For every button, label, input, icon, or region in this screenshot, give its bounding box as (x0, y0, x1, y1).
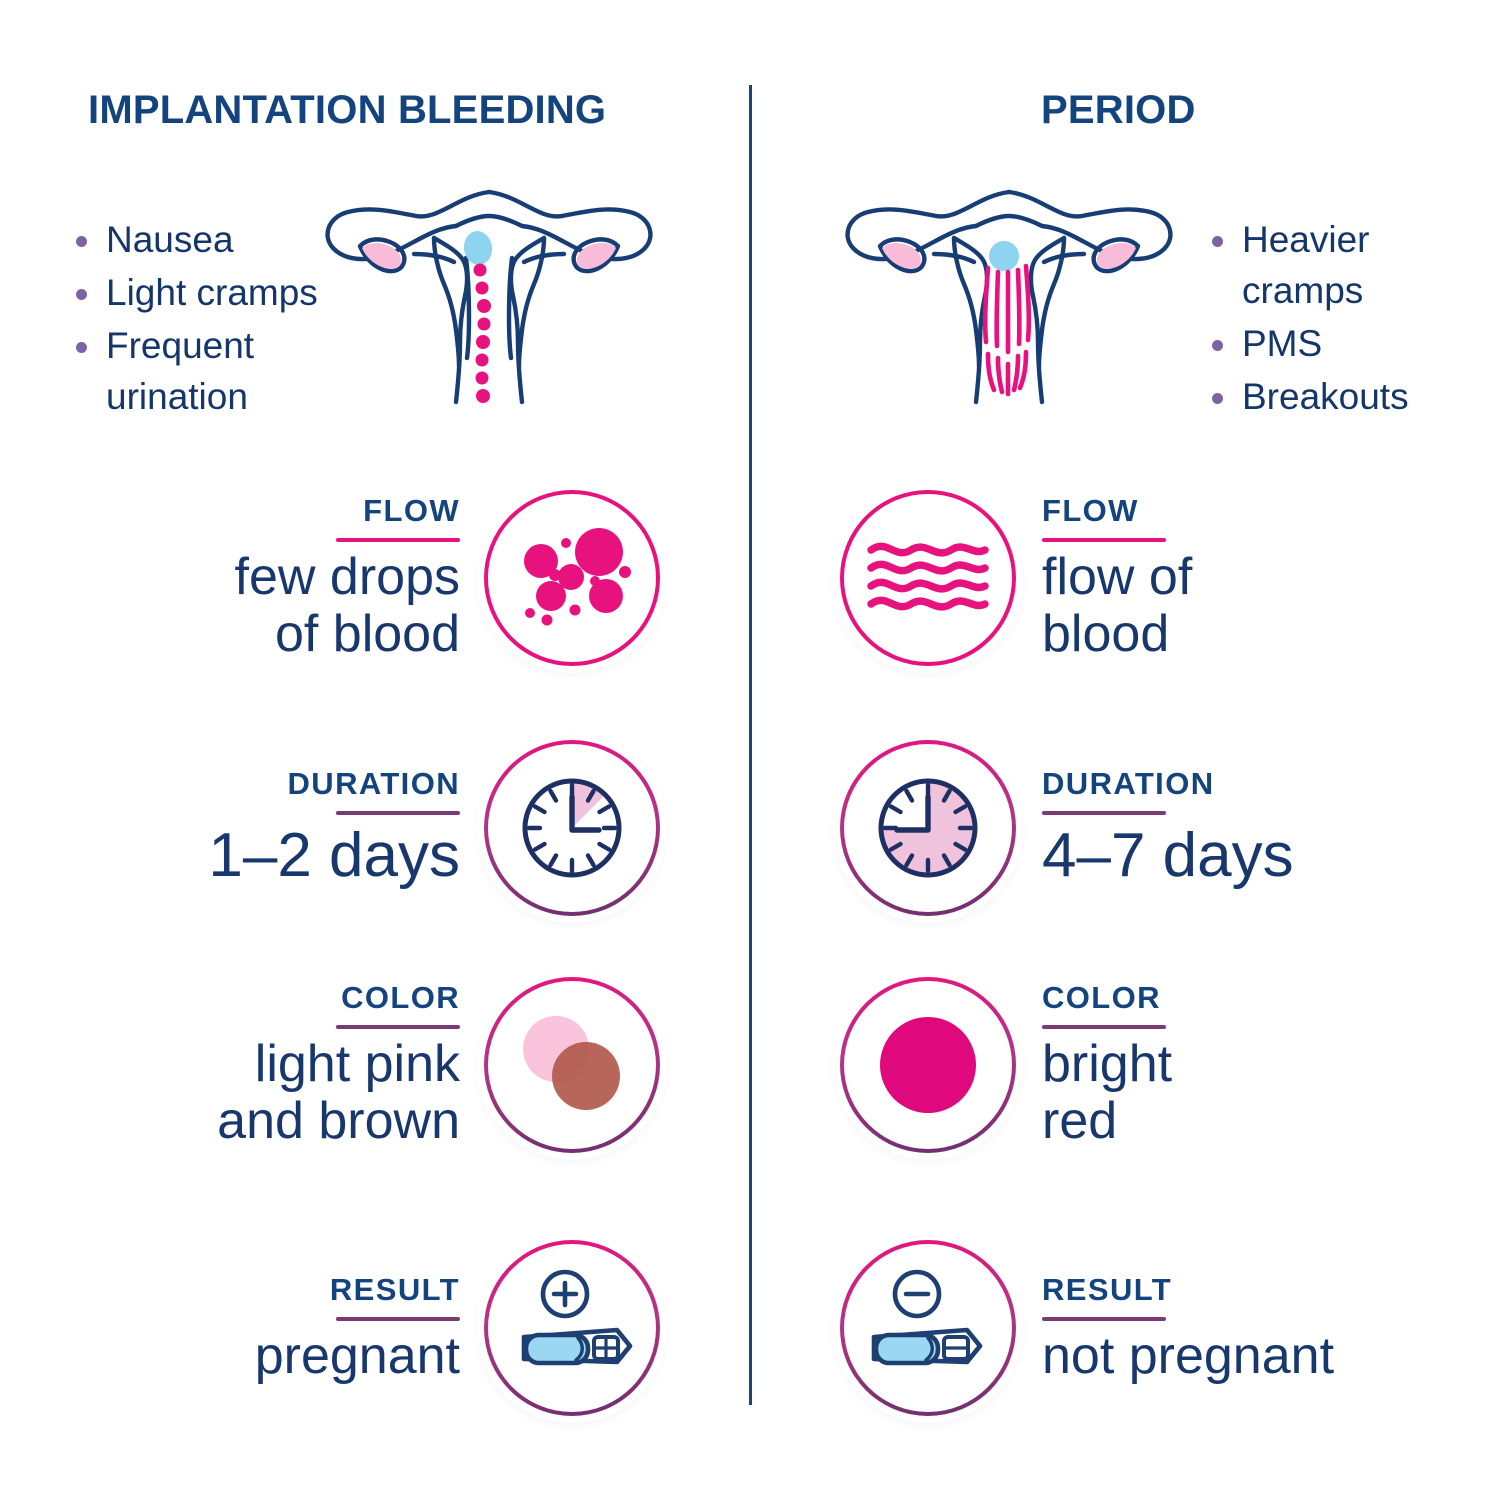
uterus-implantation-diagram (308, 178, 668, 423)
minus-sign-icon (895, 1272, 939, 1316)
infographic-canvas: IMPLANTATION BLEEDING Nausea Light cramp… (0, 0, 1500, 1500)
row-color-implantation: COLOR light pink and brown (60, 975, 660, 1155)
row-result-implantation: RESULT pregnant (60, 1238, 660, 1418)
list-item: Heavier cramps (1208, 214, 1468, 316)
row-label: FLOW (1042, 493, 1139, 529)
row-underline (336, 811, 460, 815)
row-duration-implantation: DURATION 1–2 days (60, 738, 660, 918)
row-label: RESULT (330, 1272, 460, 1308)
row-underline (336, 1025, 460, 1029)
row-text: RESULT not pregnant (1042, 1272, 1334, 1385)
row-underline (1042, 1025, 1166, 1029)
wavy-flow-icon (840, 490, 1016, 666)
blood-drops-icon (484, 490, 660, 666)
row-text: DURATION 4–7 days (1042, 766, 1294, 890)
bright-red-swatch-icon (840, 977, 1016, 1153)
row-value: 1–2 days (208, 822, 460, 890)
page-title-implantation-bleeding: IMPLANTATION BLEEDING (88, 88, 606, 133)
symptom-list-period: Heavier cramps PMS Breakouts (1208, 214, 1468, 424)
row-value: not pregnant (1042, 1328, 1334, 1385)
row-value: flow of blood (1042, 549, 1192, 663)
pink-brown-swatch-icon (484, 977, 660, 1153)
clock-long-duration-icon (840, 740, 1016, 916)
column-divider (749, 85, 752, 1405)
list-item: PMS (1208, 318, 1468, 369)
row-text: COLOR bright red (1042, 980, 1172, 1150)
row-label: DURATION (1042, 766, 1215, 802)
row-underline (1042, 538, 1166, 542)
row-underline (336, 538, 460, 542)
uterus-period-diagram (828, 178, 1188, 423)
plus-sign-icon (543, 1272, 587, 1316)
page-title-period: PERIOD (1041, 88, 1196, 133)
row-text: COLOR light pink and brown (217, 980, 460, 1150)
row-text: FLOW few drops of blood (235, 493, 460, 663)
row-underline (336, 1317, 460, 1321)
pregnancy-test-positive-icon (484, 1240, 660, 1416)
row-underline (1042, 811, 1166, 815)
clock-short-duration-icon (484, 740, 660, 916)
row-duration-period: DURATION 4–7 days (840, 738, 1460, 918)
pregnancy-test-negative-icon (840, 1240, 1016, 1416)
row-flow-period: FLOW flow of blood (840, 488, 1460, 668)
row-text: RESULT pregnant (255, 1272, 460, 1385)
row-underline (1042, 1317, 1166, 1321)
row-label: COLOR (1042, 980, 1161, 1016)
row-text: FLOW flow of blood (1042, 493, 1192, 663)
row-value: 4–7 days (1042, 822, 1294, 890)
row-color-period: COLOR bright red (840, 975, 1460, 1155)
row-result-period: RESULT not pregnant (840, 1238, 1460, 1418)
row-label: DURATION (288, 766, 461, 802)
row-flow-implantation: FLOW few drops of blood (60, 488, 660, 668)
row-value: bright red (1042, 1036, 1172, 1150)
row-value: few drops of blood (235, 549, 460, 663)
list-item: Breakouts (1208, 371, 1468, 422)
row-label: COLOR (341, 980, 460, 1016)
row-value: pregnant (255, 1328, 460, 1385)
row-label: RESULT (1042, 1272, 1172, 1308)
row-label: FLOW (363, 493, 460, 529)
row-text: DURATION 1–2 days (208, 766, 460, 890)
row-value: light pink and brown (217, 1036, 460, 1150)
